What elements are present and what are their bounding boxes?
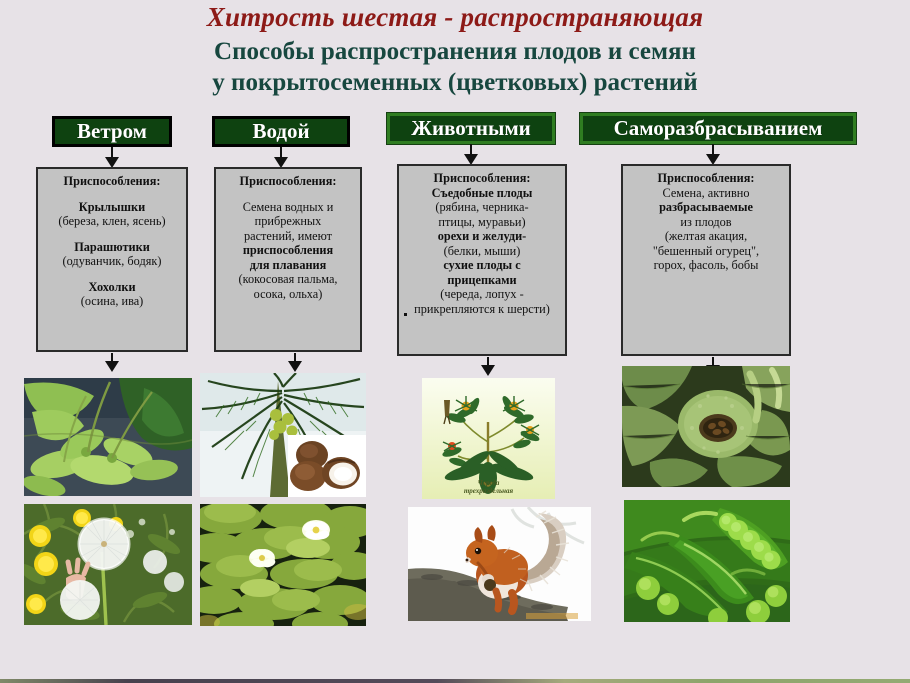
adaptation-line: (череда, лопух -: [403, 287, 561, 302]
arrow-water-to-box: [274, 147, 288, 168]
category-button-animals[interactable]: Животными: [387, 113, 555, 144]
adaptation-line: (рябина, черника-: [403, 200, 561, 215]
adaptation-box-self-scattering: Приспособления: Семена, активно разбрасы…: [621, 164, 791, 356]
adaptation-line: (белки, мыши): [403, 244, 561, 259]
adaptation-line: орехи и желуди-: [403, 229, 561, 244]
bullet-dot-icon: [404, 313, 407, 316]
dandelion-image: [24, 504, 192, 625]
photo-dandelion: [24, 504, 192, 625]
photo-maple-seeds: [24, 378, 192, 496]
category-button-self-scattering[interactable]: Саморазбрасыванием: [580, 113, 856, 144]
adaptation-line: "бешенный огурец",: [627, 244, 785, 259]
page-subtitle: Способы распространения плодов и семян у…: [0, 36, 910, 98]
category-button-water[interactable]: Водой: [212, 116, 350, 147]
adaptation-line: для плавания: [220, 258, 356, 273]
page-title: Хитрость шестая - распространяющая: [0, 2, 910, 33]
adaptation-line: приспособления: [220, 243, 356, 258]
adaptation-line: растений, имеют: [220, 229, 356, 244]
caption-line-2: трехраздельная: [464, 487, 513, 495]
bottom-edge-strip: [0, 679, 910, 683]
photo-squirting-cucumber: [622, 366, 790, 487]
arrow-box-to-photo-water: [288, 353, 302, 373]
photo-bur-marigold-plate: Чередатрехраздельная: [422, 378, 555, 499]
adaptation-line: Семена, активно: [627, 186, 785, 201]
adaptation-box-animals: Приспособления: Съедобные плоды (рябина,…: [397, 164, 567, 356]
subtitle-line-1: Способы распространения плодов и семян: [214, 38, 696, 65]
slide-canvas: Хитрость шестая - распространяющая Спосо…: [0, 0, 910, 683]
adaptation-line: горох, фасоль, бобы: [627, 258, 785, 273]
adaptation-line: прибрежных: [220, 214, 356, 229]
arrow-box-to-photo-animals: [481, 357, 495, 377]
photo-pea-pods: [624, 500, 790, 622]
adaptation-line: разбрасываемые: [627, 200, 785, 215]
coconut-palm-image: [200, 373, 366, 497]
adaptation-box-water: Приспособления: Семена водных и прибрежн…: [214, 167, 362, 352]
adaptation-line: (береза, клен, ясень): [42, 214, 182, 229]
arrow-self-to-box: [706, 144, 720, 165]
adaptation-line: Семена водных и: [220, 200, 356, 215]
adaptation-line: сухие плоды с: [403, 258, 561, 273]
adaptation-line: Крылышки: [42, 200, 182, 215]
photo-squirrel-on-branch: [408, 507, 591, 621]
adaptation-line: (кокосовая пальма,: [220, 272, 356, 287]
adaptation-line: Съедобные плоды: [403, 186, 561, 201]
water-lily-pads-image: [200, 504, 366, 626]
adaptation-line: Хохолки: [42, 280, 182, 295]
photo-coconut-palm: [200, 373, 366, 497]
category-button-wind[interactable]: Ветром: [52, 116, 172, 147]
caption-line-1: Череда: [478, 479, 500, 487]
maple-seeds-image: [24, 378, 192, 496]
adaptation-heading: Приспособления:: [42, 174, 182, 189]
adaptation-box-wind: Приспособления: Крылышки (береза, клен, …: [36, 167, 188, 352]
photo-water-lily-pads: [200, 504, 366, 626]
subtitle-line-2: у покрытосеменных (цветковых) растений: [0, 67, 910, 98]
arrow-box-to-photo-wind: [105, 353, 119, 373]
squirrel-image: [408, 507, 591, 621]
adaptation-line: прикрепляются к шерсти): [403, 302, 561, 317]
squirting-cucumber-image: [622, 366, 790, 487]
adaptation-line: осока, ольха): [220, 287, 356, 302]
arrow-animals-to-box: [464, 144, 478, 165]
adaptation-line: (одуванчик, бодяк): [42, 254, 182, 269]
adaptation-line: (осина, ива): [42, 294, 182, 309]
adaptation-line: из плодов: [627, 215, 785, 230]
adaptation-line: Парашютики: [42, 240, 182, 255]
photo-caption: Чередатрехраздельная: [422, 479, 555, 495]
adaptation-line: прицепками: [403, 273, 561, 288]
adaptation-heading: Приспособления:: [627, 171, 785, 186]
adaptation-line: птицы, муравьи): [403, 215, 561, 230]
arrow-wind-to-box: [105, 147, 119, 168]
pea-pods-image: [624, 500, 790, 622]
adaptation-heading: Приспособления:: [403, 171, 561, 186]
adaptation-line: (желтая акация,: [627, 229, 785, 244]
adaptation-heading: Приспособления:: [220, 174, 356, 189]
